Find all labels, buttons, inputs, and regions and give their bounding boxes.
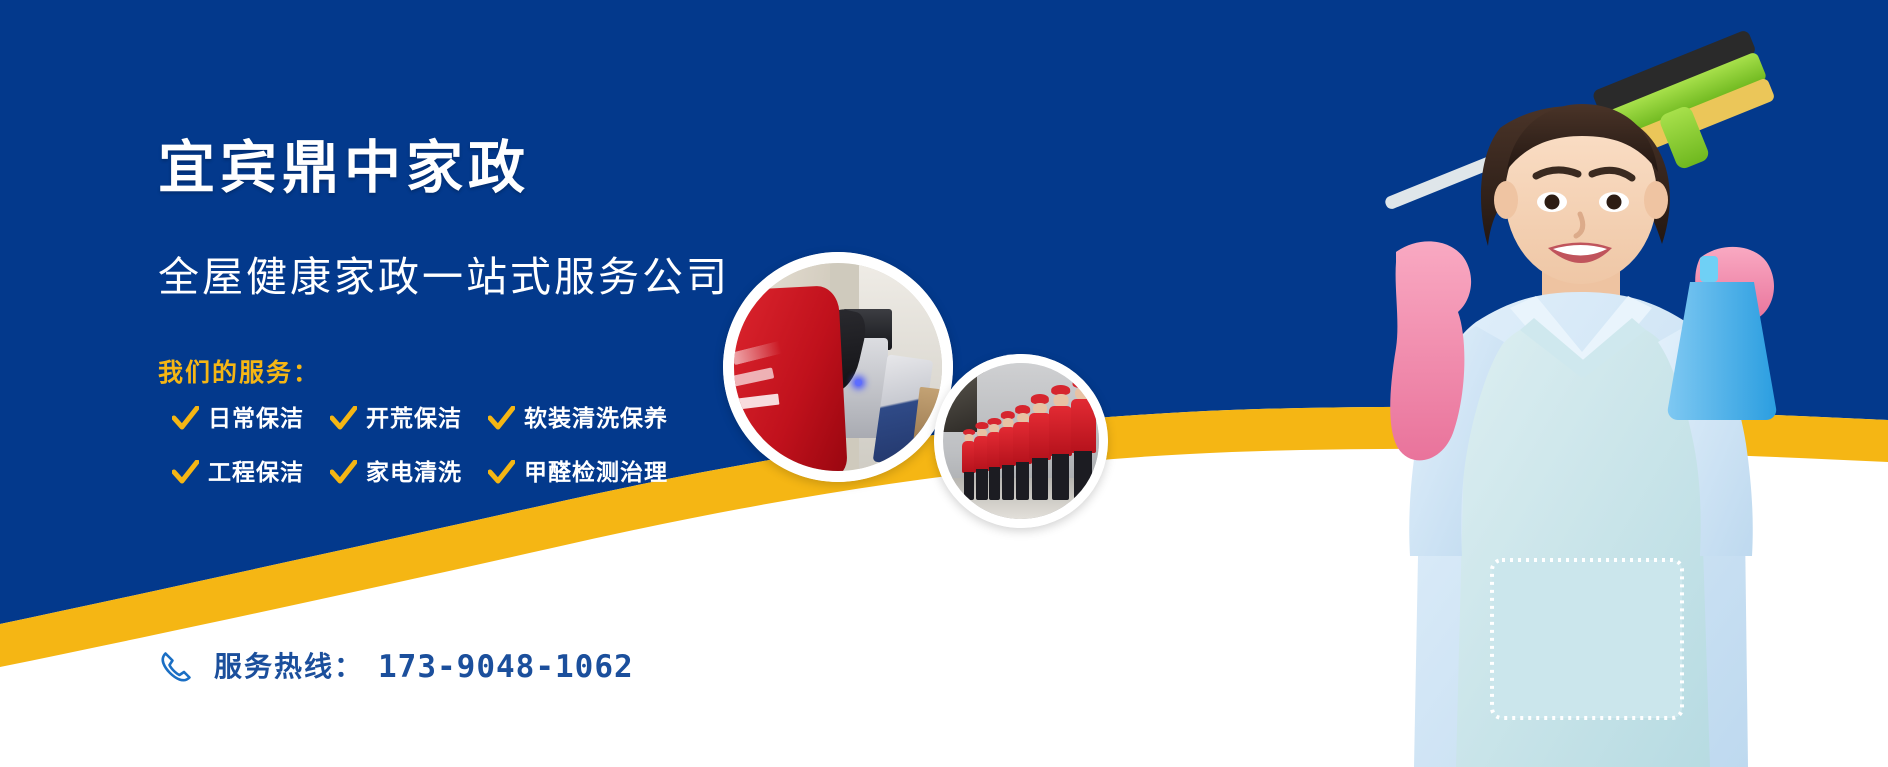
team-member-legs [976,469,987,500]
team-member [1049,385,1072,500]
model-photo-cleaning-lady [1248,0,1888,767]
services-row-1: 日常保洁 开荒保洁 软装清洗保养 [172,406,668,431]
team-member [1071,377,1096,500]
check-icon [330,460,357,485]
service-label: 软装清洗保养 [524,407,668,430]
team-member-red-uniform [1029,413,1051,460]
team-member-legs [1002,465,1014,501]
service-item[interactable]: 日常保洁 [172,406,304,431]
service-label: 甲醛检测治理 [524,461,668,484]
check-icon [488,406,515,431]
check-icon [172,460,199,485]
service-item[interactable]: 软装清洗保养 [488,406,668,431]
model-ear-left [1494,181,1518,219]
advertising-banner: 宜宾鼎中家政 全屋健康家政一站式服务公司 我们的服务： 日常保洁 开荒保洁 [0,0,1888,767]
team-member [1029,394,1051,500]
team-member-red-uniform [1049,406,1072,457]
service-item[interactable]: 家电清洗 [330,460,462,485]
check-icon [330,406,357,431]
service-label: 开荒保洁 [366,407,462,430]
service-item[interactable]: 甲醛检测治理 [488,460,668,485]
team-photo-illustration [943,363,1099,519]
hotline-block[interactable]: 服务热线： 173-9048-1062 [158,648,634,686]
service-label: 家电清洗 [366,461,462,484]
service-label: 工程保洁 [208,461,304,484]
service-label: 日常保洁 [208,407,304,430]
service-item[interactable]: 开荒保洁 [330,406,462,431]
spray-bottle-nozzle [1700,256,1718,282]
team-member-legs [1074,451,1092,500]
service-item[interactable]: 工程保洁 [172,460,304,485]
brand-title: 宜宾鼎中家政 [158,140,530,197]
services-row-2: 工程保洁 家电清洗 甲醛检测治理 [172,460,668,485]
model-apron-pocket [1492,560,1682,718]
circle-photo-team [943,363,1099,519]
team-member-legs [1016,462,1029,500]
team-member-legs [1052,454,1069,500]
check-icon [172,406,199,431]
hotline-number[interactable]: 173-9048-1062 [378,652,634,683]
model-pupil-left [1545,195,1560,210]
team-member-legs [1032,458,1048,500]
circle-photo-worker [734,263,942,471]
brand-subtitle: 全屋健康家政一站式服务公司 [158,257,730,298]
check-icon [488,460,515,485]
team-member-legs [964,472,974,501]
team-member-head [1053,394,1068,407]
model-ear-right [1644,181,1668,219]
phone-icon [158,648,196,686]
worker-photo-illustration [734,263,942,471]
team-member-red-uniform [1071,399,1096,453]
photo-circle-team [934,354,1108,528]
model-pupil-right [1607,195,1622,210]
hotline-label: 服务热线： [214,653,364,681]
services-label: 我们的服务： [158,361,320,386]
